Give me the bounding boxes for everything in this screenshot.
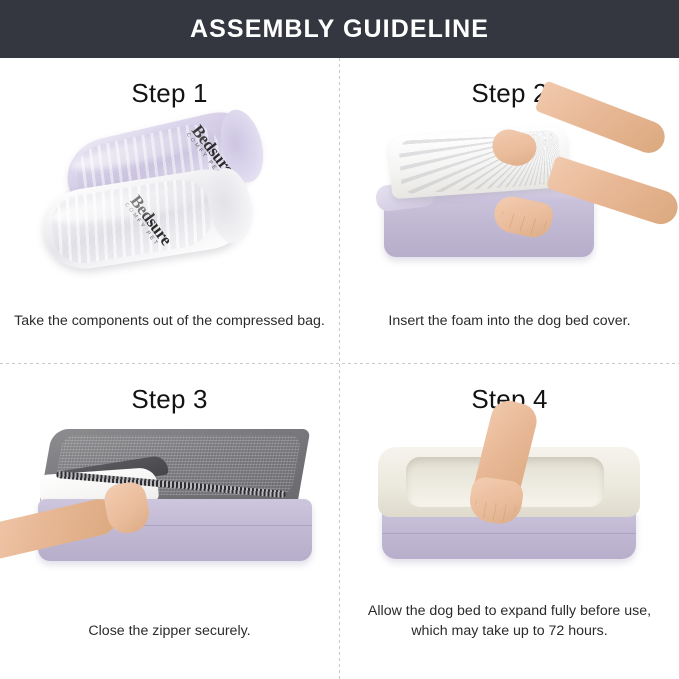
step-title-3: Step 3 <box>131 384 207 415</box>
page-title: ASSEMBLY GUIDELINE <box>190 15 489 44</box>
page-header: ASSEMBLY GUIDELINE <box>0 0 679 58</box>
step-card-2: Step 2 Insert the foam into the dog bed … <box>340 58 679 363</box>
foam-pleat-texture <box>398 129 561 194</box>
base-seam <box>382 533 636 534</box>
step-card-1: Step 1 Bedsure COMFY PET Bedsure COMFY P… <box>0 58 339 363</box>
close-zipper-illustration <box>20 423 320 591</box>
step-caption-1: Take the components out of the compresse… <box>14 311 325 331</box>
bag-brand-white: Bedsure COMFY PET <box>122 192 174 251</box>
expand-bed-illustration <box>360 423 660 591</box>
step-caption-4: Allow the dog bed to expand fully before… <box>354 601 665 641</box>
assembly-guideline-page: ASSEMBLY GUIDELINE Step 1 Bedsure COMFY … <box>0 0 679 679</box>
step-card-3: Step 3 Close the zipper securely. <box>0 364 339 669</box>
step-caption-3: Close the zipper securely. <box>14 621 325 641</box>
steps-grid: Step 1 Bedsure COMFY PET Bedsure COMFY P… <box>0 58 679 679</box>
step-caption-2: Insert the foam into the dog bed cover. <box>354 311 665 331</box>
compressed-bags-illustration: Bedsure COMFY PET Bedsure COMFY PET <box>20 117 320 285</box>
insert-foam-illustration <box>360 117 660 285</box>
foam-insert <box>388 125 570 199</box>
step-card-4: Step 4 Allow the dog bed to expand fully… <box>340 364 679 669</box>
step-title-1: Step 1 <box>131 78 207 109</box>
